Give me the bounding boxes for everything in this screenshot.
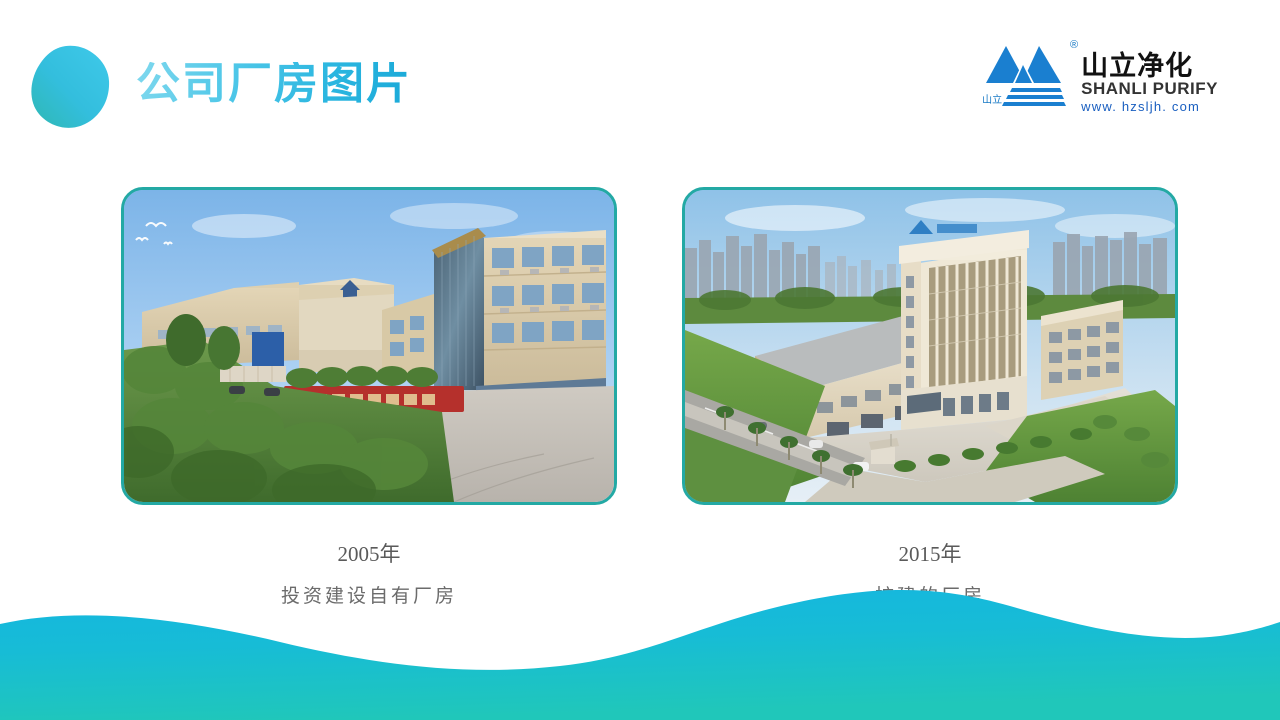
caption-year-2005: 2005年 (121, 538, 617, 568)
factory-photo-2015 (685, 190, 1175, 502)
brand-text-block: 山立净化 SHANLI PURIFY www. hzsljh. com (1081, 38, 1218, 114)
slide-canvas: 公司厂房图片 ® 山立 山立净化 SHANLI PURIFY www. hzs (0, 0, 1280, 720)
brand-logo: ® 山立 山立净化 SHANLI PURIFY www. hzsljh. com (982, 38, 1218, 114)
photo-card-2015[interactable] (682, 187, 1178, 505)
logo-mark-caption: 山立 (982, 96, 1002, 106)
bottom-wave-decoration (0, 580, 1280, 720)
shanli-mountain-logo-icon: ® 山立 (982, 38, 1074, 110)
blob-decoration-icon (28, 44, 110, 128)
caption-year-2015: 2015年 (682, 538, 1178, 568)
factory-photo-2005 (124, 190, 614, 502)
registered-trademark-icon: ® (1070, 40, 1078, 51)
brand-name-en: SHANLI PURIFY (1081, 80, 1218, 99)
brand-website: www. hzsljh. com (1081, 99, 1218, 115)
brand-name-cn: 山立净化 (1081, 52, 1218, 80)
photo-card-2005[interactable] (121, 187, 617, 505)
page-title: 公司厂房图片 (136, 62, 412, 106)
